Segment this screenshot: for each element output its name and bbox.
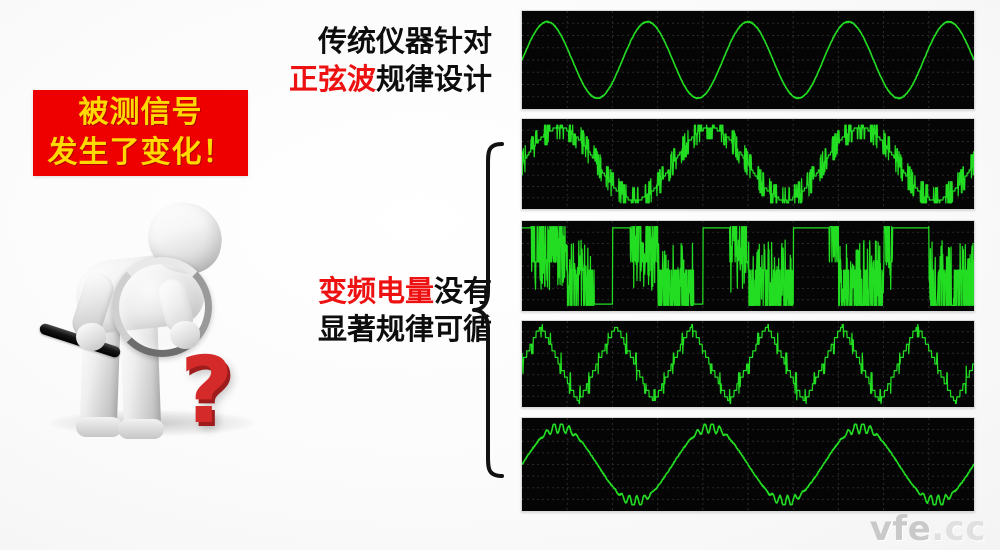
watermark-primary: vfe — [870, 509, 932, 549]
watermark: vfe.cc — [870, 512, 986, 546]
scope-trace-4 — [522, 321, 974, 407]
oscilloscope-panel-group — [521, 0, 975, 550]
scope-trace-1 — [522, 11, 974, 109]
caption-top-line2-rest: 规律设计 — [376, 62, 492, 96]
scope-trace-3 — [522, 221, 974, 311]
scope-trace-2 — [522, 119, 974, 209]
caption-traditional-instrument: 传统仪器针对 正弦波规律设计 — [272, 22, 492, 98]
alert-banner: 被测信号 发生了变化！ — [33, 90, 248, 176]
caption-mid-highlight: 变频电量 — [318, 274, 434, 308]
scope-panel-2[interactable] — [521, 118, 975, 210]
caption-top-highlight: 正弦波 — [289, 62, 376, 96]
figure-foot-left — [76, 417, 122, 437]
figure-hand-left — [76, 323, 106, 351]
caption-top-line2: 正弦波规律设计 — [272, 60, 492, 98]
scope-panel-3[interactable] — [521, 220, 975, 312]
illustration-person-with-magnifier: ? — [30, 195, 280, 445]
watermark-secondary: .cc — [931, 509, 986, 549]
scope-panel-4[interactable] — [521, 320, 975, 408]
scope-panel-5[interactable] — [521, 417, 975, 512]
slide-canvas: 被测信号 发生了变化！ 传统仪器针对 正弦波规律设计 变频电量没有 显著规律可循… — [0, 0, 1000, 550]
scope-panel-1[interactable] — [521, 10, 975, 110]
caption-top-line1: 传统仪器针对 — [272, 22, 492, 60]
curly-brace-icon — [452, 140, 508, 480]
alert-banner-line2: 发生了变化！ — [48, 133, 234, 173]
scope-trace-5 — [522, 418, 974, 511]
alert-banner-line1: 被测信号 — [79, 93, 203, 133]
figure-foot-right — [118, 419, 164, 439]
question-mark-icon: ? — [180, 345, 233, 437]
